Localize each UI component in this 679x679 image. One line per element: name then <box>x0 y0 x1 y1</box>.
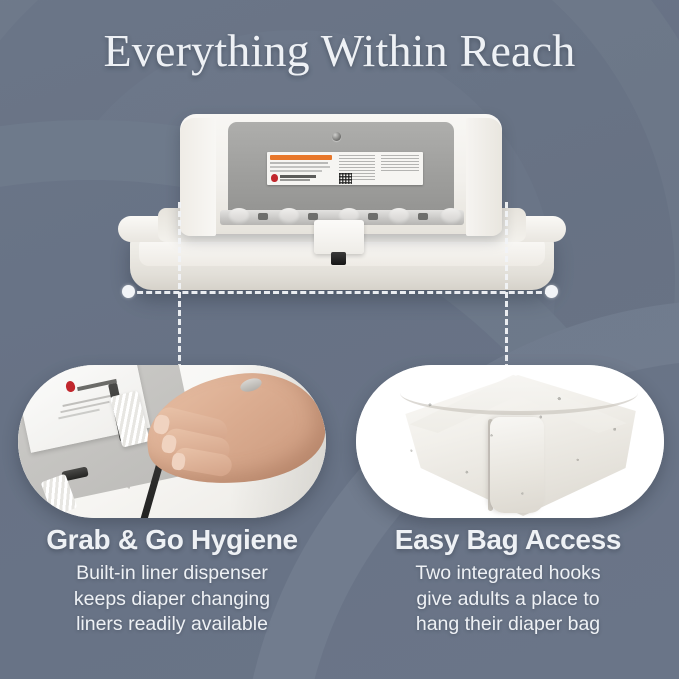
infographic-canvas: Everything Within Reach <box>0 0 679 679</box>
foundations-logo-icon <box>271 174 278 182</box>
connector-dot-left <box>122 285 135 298</box>
connector-vertical-dashed-line-right <box>505 202 508 370</box>
qr-code-icon <box>339 173 352 184</box>
feature-heading-right: Easy Bag Access <box>348 525 668 555</box>
latch-knob <box>331 252 346 265</box>
feature-caption-right: Easy Bag Access Two integrated hooks giv… <box>348 525 668 637</box>
connector-horizontal-dashed-line <box>128 291 551 294</box>
connector-vertical-dashed-line-left <box>178 202 181 370</box>
feature-photo-corner-hook <box>356 365 664 518</box>
backboard-right-wing <box>466 118 502 236</box>
warning-label <box>267 152 423 185</box>
feature-body-line: Built-in liner dispenser <box>12 561 332 586</box>
feature-caption-left: Grab & Go Hygiene Built-in liner dispens… <box>12 525 332 637</box>
backboard-left-wing <box>180 118 216 236</box>
feature-body-line: liners readily available <box>12 612 332 637</box>
feature-body-line: keeps diaper changing <box>12 587 332 612</box>
feature-body-line: hang their diaper bag <box>348 612 668 637</box>
feature-body-line: give adults a place to <box>348 587 668 612</box>
feature-body-line: Two integrated hooks <box>348 561 668 586</box>
connector-dot-right <box>545 285 558 298</box>
feature-body-left: Built-in liner dispenser keeps diaper ch… <box>12 561 332 637</box>
feature-heading-left: Grab & Go Hygiene <box>12 525 332 555</box>
center-latch <box>314 220 364 254</box>
screw-icon <box>332 132 341 141</box>
page-title: Everything Within Reach <box>0 28 679 74</box>
feature-body-right: Two integrated hooks give adults a place… <box>348 561 668 637</box>
feature-photo-liner-dispenser <box>18 365 326 518</box>
